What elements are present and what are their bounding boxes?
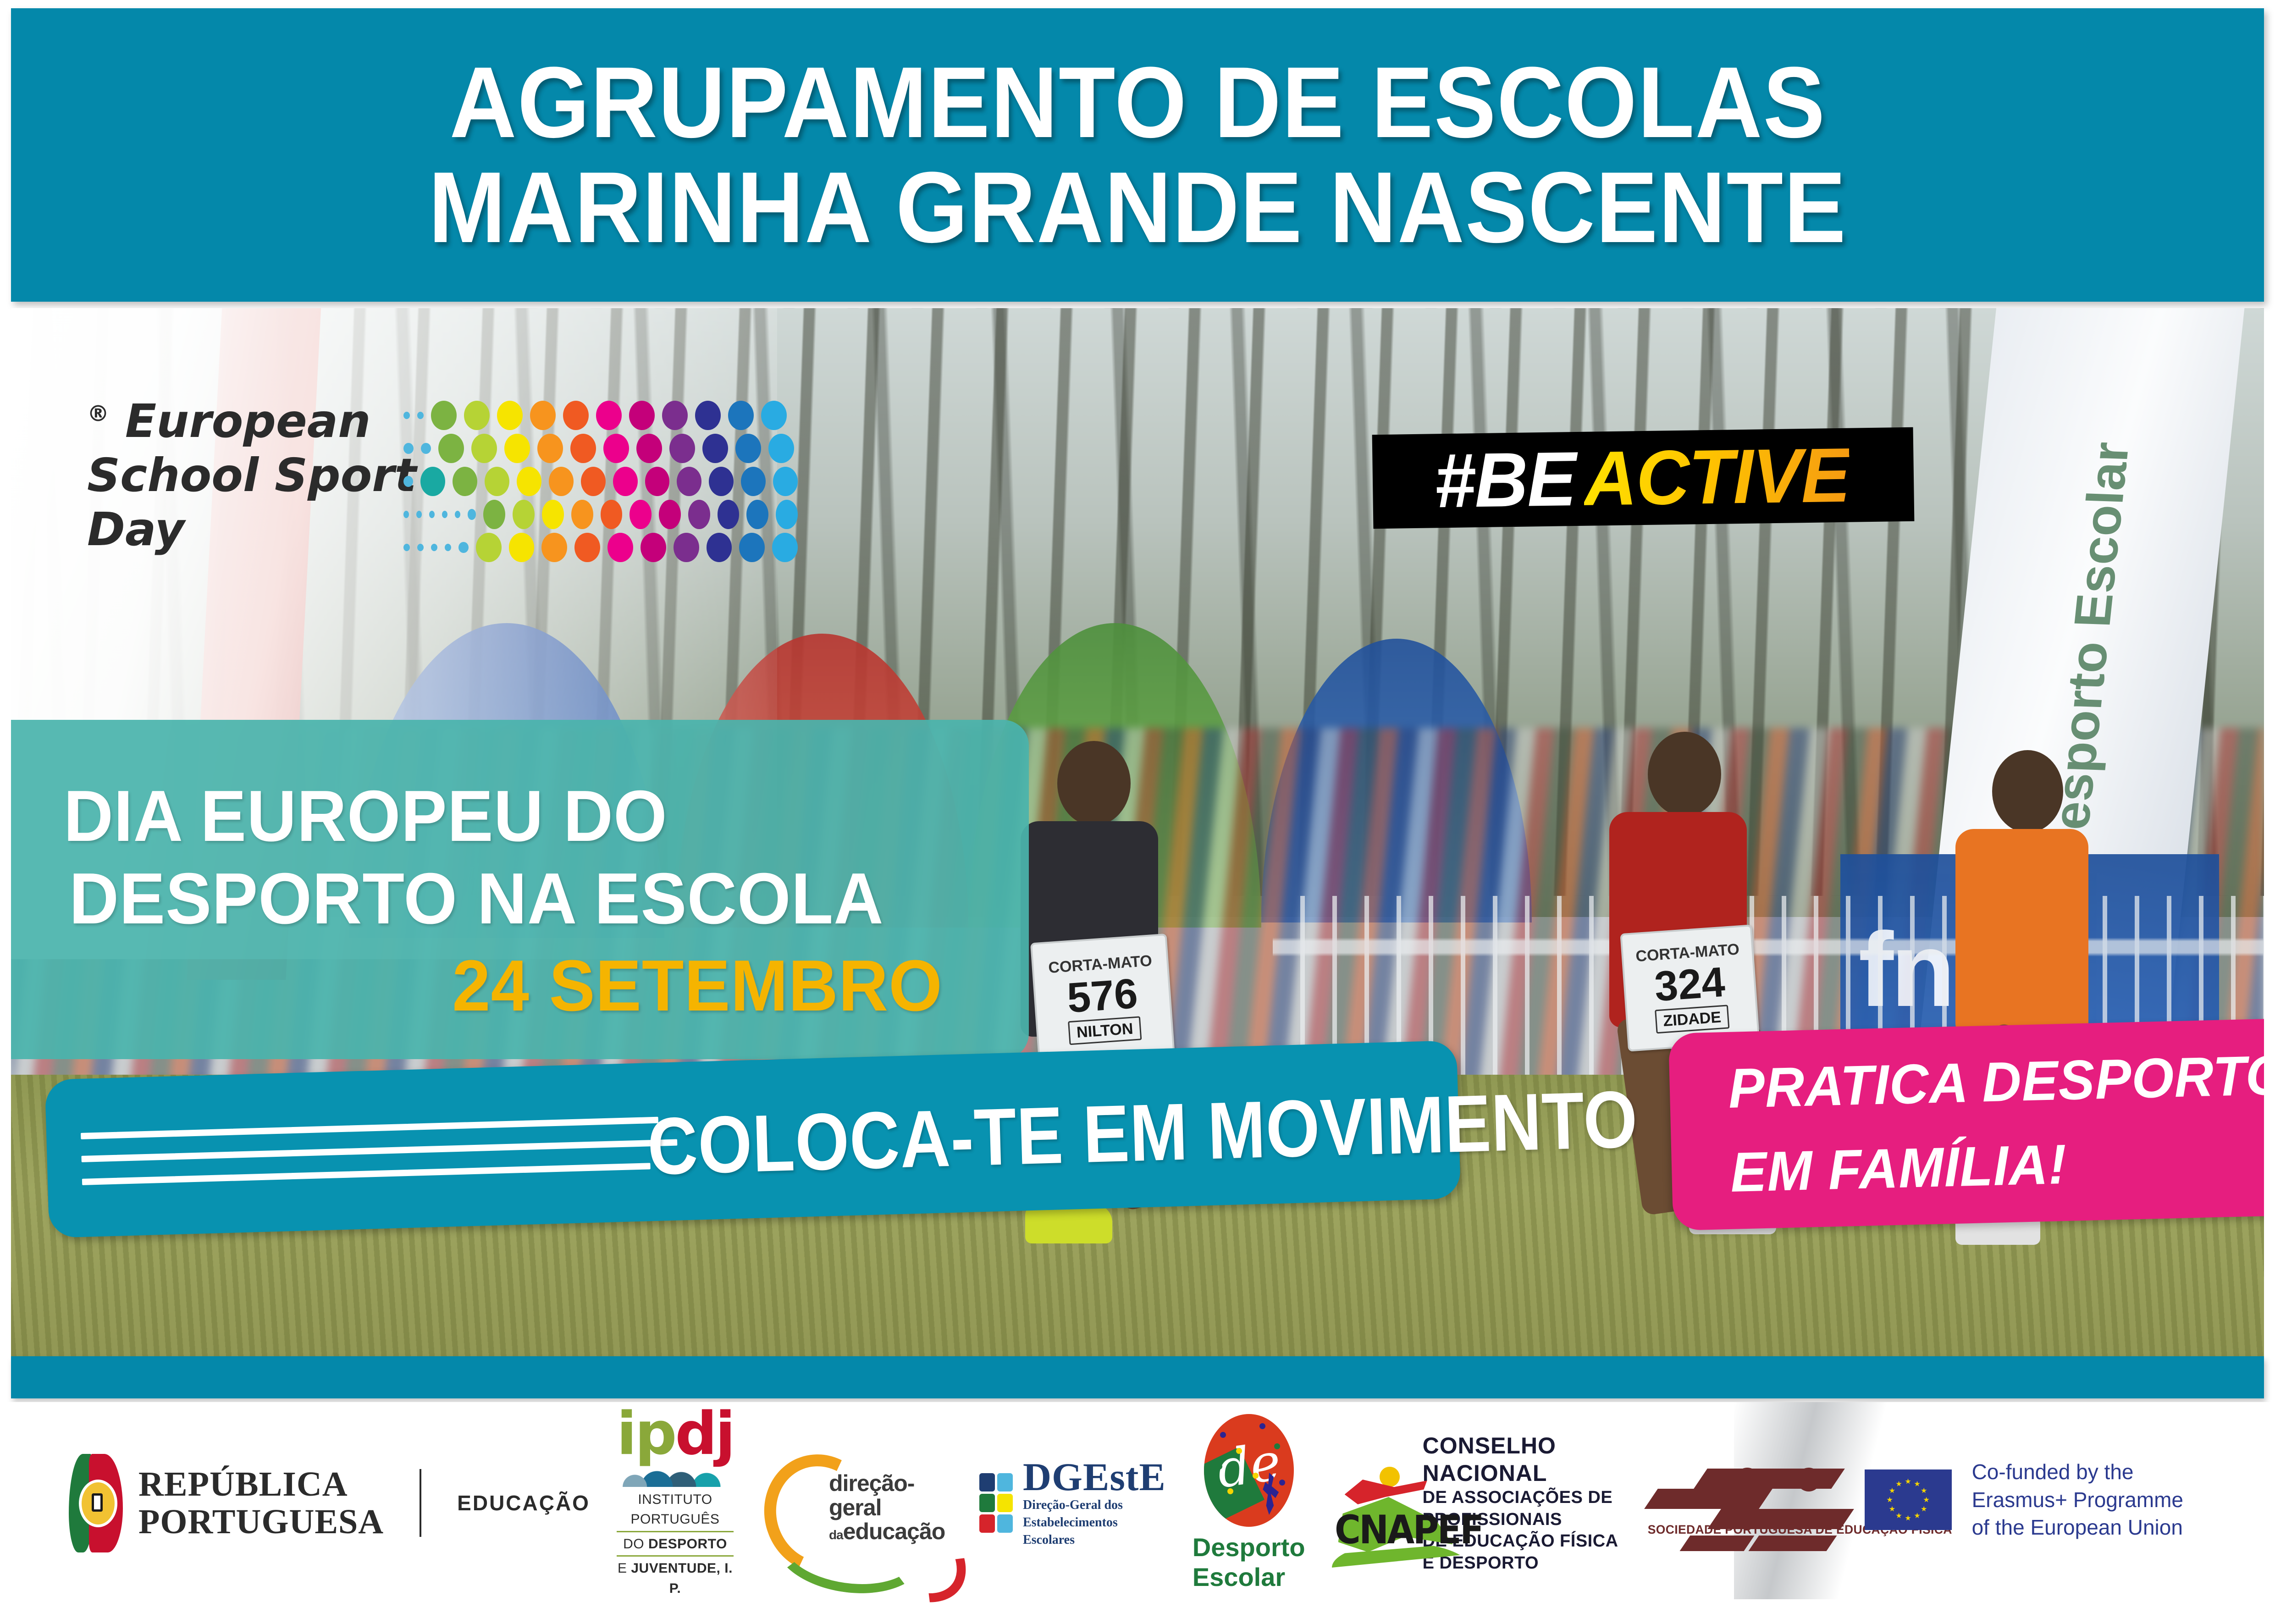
spef-mark-icon: SOCIEDADE PORTUGUESA DE EDUCAÇÃO FÍSICA <box>1646 1450 1861 1556</box>
republica-line-1: REPÚBLICA <box>138 1465 384 1503</box>
dgeste-squares-icon <box>979 1473 1013 1533</box>
desporto-escolar-script: de <box>1214 1436 1284 1496</box>
republica-line-2: PORTUGUESA <box>138 1503 384 1541</box>
essd-dot-grid-icon <box>403 399 798 550</box>
ipdj-wordmark: ipdj <box>617 1408 734 1460</box>
logo-republica-portuguesa: REPÚBLICA PORTUGUESA EDUCAÇÃO <box>69 1454 590 1552</box>
european-school-sport-day-logo: ® European School Sport Day <box>87 394 802 569</box>
cnapef-acronym: CNAPEF <box>1335 1507 1482 1553</box>
dgeste-line-1: Direção-Geral dos <box>1023 1497 1166 1514</box>
beactive-hash-be: #BE <box>1434 435 1576 525</box>
family-badge-line-2: EM FAMÍLIA! <box>1729 1117 2264 1214</box>
family-sport-badge: PRATICA DESPORTO EM FAMÍLIA! <box>1668 1019 2264 1231</box>
event-title-panel: DIA EUROPEU DO DESPORTO NA ESCOLA 24 SET… <box>11 720 1029 1059</box>
dgeste-acronym: DGEstE <box>1023 1457 1166 1497</box>
beactive-active-word: ACTIVE <box>1583 431 1850 523</box>
erasmus-line-2: Erasmus+ Programme <box>1972 1486 2183 1514</box>
event-date: 24 SETEMBRO <box>452 945 943 1027</box>
ipdj-line-3: E JUVENTUDE, I. P. <box>617 1558 734 1598</box>
erasmus-line-3: of the European Union <box>1972 1514 2183 1541</box>
desporto-escolar-label: Desporto Escolar <box>1193 1532 1305 1592</box>
hero-photo: Desporto Escolar fnac CORTA-MATO 576 NIL… <box>11 308 2264 1358</box>
cnapef-mark-icon: CNAPEF <box>1332 1464 1413 1574</box>
cnapef-line-1: CONSELHO NACIONAL <box>1423 1432 1619 1487</box>
dge-mark: direção-geral daeducação <box>760 1450 953 1556</box>
ipdj-fullname: INSTITUTO PORTUGUÊS DO DESPORTO E JUVENT… <box>617 1490 734 1599</box>
bib-name-right: ZIDADE <box>1655 1005 1730 1034</box>
race-bib-left: CORTA-MATO 576 NILTON <box>1030 934 1175 1066</box>
republica-department: EDUCAÇÃO <box>457 1491 590 1515</box>
school-name-line-1: AGRUPAMENTO DE ESCOLAS <box>449 50 1826 155</box>
speed-lines-icon <box>81 1116 688 1202</box>
essd-line-1: ® European <box>87 394 436 448</box>
republica-wordmark: REPÚBLICA PORTUGUESA <box>138 1465 384 1541</box>
sponsor-footer: REPÚBLICA PORTUGUESA EDUCAÇÃO ipdj INSTI… <box>0 1402 2275 1608</box>
erasmus-funding-text: Co-funded by the Erasmus+ Programme of t… <box>1972 1458 2183 1541</box>
dge-wordmark: direção-geral daeducação <box>829 1471 953 1544</box>
erasmus-line-1: Co-funded by the <box>1972 1458 2183 1486</box>
runner-silhouette-1: CORTA-MATO 576 NILTON <box>1002 741 1199 1337</box>
logo-spef: SOCIEDADE PORTUGUESA DE EDUCAÇÃO FÍSICA <box>1646 1450 1861 1556</box>
dge-line-2: daeducação <box>829 1519 953 1544</box>
logo-cnapef: CNAPEF CONSELHO NACIONAL DE ASSOCIAÇÕES … <box>1332 1432 1619 1574</box>
logo-direcao-geral-educacao: direção-geral daeducação <box>760 1450 953 1556</box>
poster-header: AGRUPAMENTO DE ESCOLAS MARINHA GRANDE NA… <box>11 8 2264 302</box>
dgeste-wordmark: DGEstE Direção-Geral dos Estabelecimento… <box>1023 1457 1166 1548</box>
desporto-escolar-emblem-icon: de <box>1204 1414 1294 1527</box>
spef-caption: SOCIEDADE PORTUGUESA DE EDUCAÇÃO FÍSICA <box>1647 1523 1859 1537</box>
bib-number-right: 324 <box>1653 961 1726 1008</box>
event-title-line-2: DESPORTO NA ESCOLA <box>69 857 884 940</box>
dgeste-line-2: Estabelecimentos Escolares <box>1023 1514 1166 1549</box>
logo-desporto-escolar: de Desporto Escolar <box>1193 1414 1305 1592</box>
beactive-badge: #BEACTIVE <box>1372 427 1915 529</box>
european-union-flag-icon <box>1865 1469 1952 1530</box>
essd-line-3: Day <box>87 503 436 557</box>
logo-dgeste: DGEstE Direção-Geral dos Estabelecimento… <box>979 1457 1166 1548</box>
bib-name-left: NILTON <box>1068 1016 1142 1045</box>
republica-divider <box>420 1469 421 1537</box>
teal-divider-strip <box>11 1356 2264 1398</box>
family-badge-line-1: PRATICA DESPORTO <box>1728 1033 2263 1130</box>
dge-line-1: direção-geral <box>829 1471 953 1519</box>
logo-erasmus-eu: Co-funded by the Erasmus+ Programme of t… <box>1865 1458 2183 1541</box>
event-title-line-1: DIA EUROPEU DO <box>64 775 668 858</box>
ipdj-line-2: DO DESPORTO <box>617 1534 734 1557</box>
registered-mark-icon: ® <box>87 401 109 427</box>
ipdj-people-icon <box>622 1458 728 1487</box>
school-name-line-2: MARINHA GRANDE NASCENTE <box>428 155 1846 260</box>
sponsor-logo-row: REPÚBLICA PORTUGUESA EDUCAÇÃO ipdj INSTI… <box>69 1411 1793 1595</box>
bib-number-left: 576 <box>1066 972 1139 1019</box>
portuguese-flag-shield-icon <box>69 1454 123 1552</box>
logo-ipdj: ipdj INSTITUTO PORTUGUÊS DO DESPORTO E J… <box>617 1408 734 1599</box>
essd-line-2: School Sport <box>87 448 436 503</box>
poster-root: AGRUPAMENTO DE ESCOLAS MARINHA GRANDE NA… <box>0 0 2275 1608</box>
essd-wordmark: ® European School Sport Day <box>87 394 436 557</box>
ipdj-line-1: INSTITUTO PORTUGUÊS <box>617 1490 734 1532</box>
